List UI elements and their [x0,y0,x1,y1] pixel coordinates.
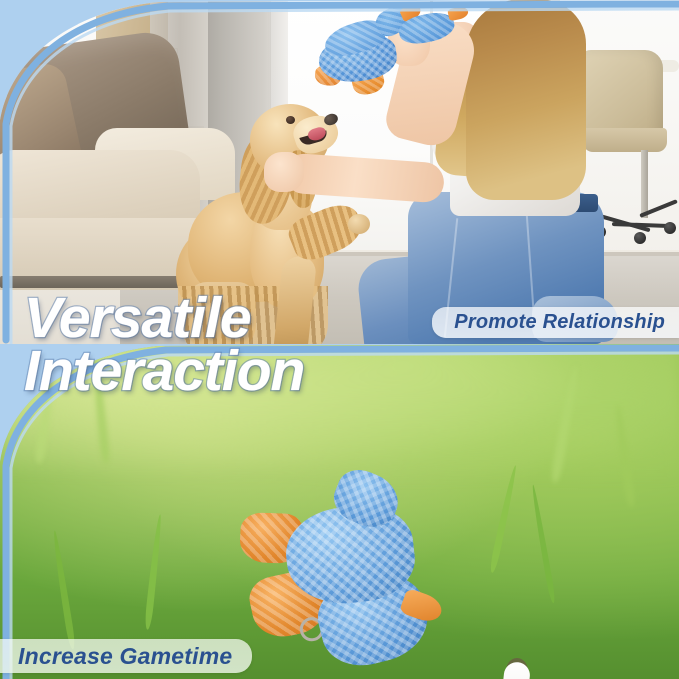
badge-top-label: Promote Relationship [454,311,665,334]
headline-line-1: Versatile [24,292,304,345]
dog-cocker-spaniel [178,96,373,311]
marketing-collage: Promote Relationship [0,0,679,679]
badge-increase-gametime: Increase Gametime [0,639,252,673]
badge-bottom-label: Increase Gametime [18,643,232,670]
girl-hand-holding-paw [264,152,304,192]
badge-promote-relationship: Promote Relationship [432,307,679,338]
headline: Versatile Interaction [24,292,304,398]
girl-hair [466,0,586,200]
dog-paw-tip [348,214,370,234]
toy-beak [447,5,469,21]
headline-line-2: Interaction [24,345,304,398]
dog-eye [286,116,295,124]
